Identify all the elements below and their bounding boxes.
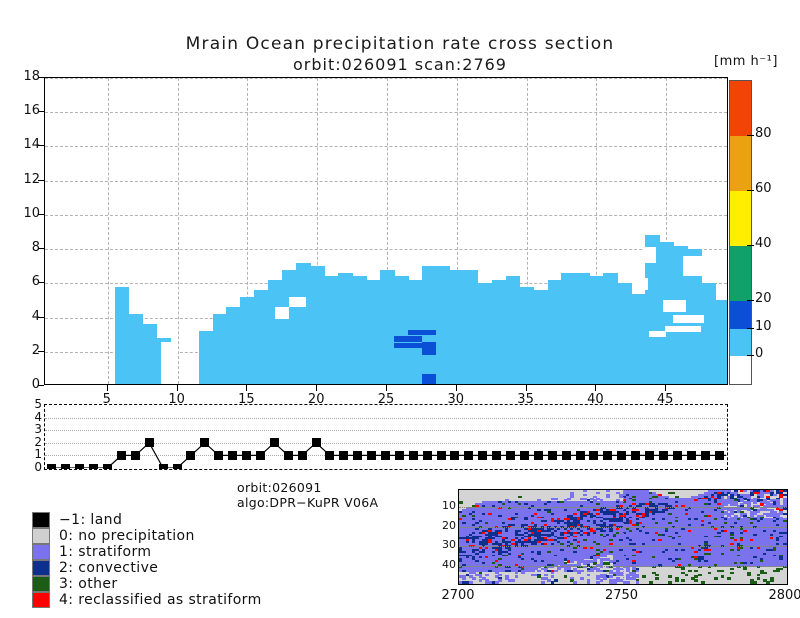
classification-marker	[159, 464, 168, 471]
inset-pixel	[567, 498, 571, 500]
inset-pixel	[747, 574, 751, 576]
y-axis-tick-label: 16	[6, 103, 40, 118]
inset-pixel	[606, 496, 610, 498]
classification-marker	[325, 451, 334, 460]
classification-marker	[367, 451, 376, 460]
x-axis-tick-mark	[386, 385, 387, 391]
classification-y-tick-label: 0	[26, 460, 42, 474]
classification-marker	[534, 451, 543, 460]
y-axis-tick-label: 18	[6, 69, 40, 84]
colorbar-tick-label: 40	[755, 236, 772, 251]
x-axis-tick-mark	[177, 385, 178, 391]
heavy-rain-cell	[408, 336, 423, 341]
precip-column	[464, 270, 479, 385]
inset-pixel	[541, 581, 545, 583]
inset-pixel	[672, 492, 676, 494]
inset-y-tick-label: 40	[434, 558, 456, 571]
gridline-horizontal	[45, 215, 727, 216]
inset-pixel	[551, 572, 555, 574]
inset-pixel	[590, 570, 594, 572]
precip-column	[534, 290, 549, 385]
classification-marker	[381, 451, 390, 460]
precip-column	[561, 273, 576, 385]
inset-pixel	[469, 581, 473, 583]
legend-item: 0: no precipitation	[32, 528, 262, 544]
inset-x-tick-label: 2750	[592, 588, 652, 603]
colorbar-tick-label: 20	[755, 291, 772, 306]
precip-column	[589, 276, 604, 385]
inset-pixel	[596, 492, 600, 494]
gridline-horizontal	[45, 112, 727, 113]
inset-pixel	[681, 579, 685, 581]
classification-marker	[214, 451, 223, 460]
colorbar-tick-mark	[747, 190, 754, 191]
inset-pixel	[479, 579, 483, 581]
x-axis-tick-mark	[595, 385, 596, 391]
inset-pixel	[551, 575, 555, 577]
inset-pixel	[603, 555, 607, 557]
classification-marker	[61, 464, 70, 471]
classification-marker	[673, 451, 682, 460]
colorbar-tick-label: 80	[755, 126, 772, 141]
precip-gap	[665, 326, 701, 332]
inset-pixel	[766, 581, 770, 583]
inset-pixel	[580, 577, 584, 579]
inset-x-axis: 270027502800	[458, 586, 788, 606]
heavy-rain-cell	[408, 343, 423, 348]
classification-marker	[75, 464, 84, 471]
inset-y-tick-label: 30	[434, 538, 456, 551]
inset-pixel	[573, 581, 577, 583]
y-axis-tick-label: 2	[6, 343, 40, 358]
metadata-algo: algo:DPR−KuPR V06A	[237, 495, 378, 510]
metadata-block: orbit:026091 algo:DPR−KuPR V06A	[237, 480, 378, 510]
colorbar-tick-mark	[747, 300, 754, 301]
inset-gridline-vertical	[623, 490, 624, 584]
inset-x-tick-label: 2700	[428, 588, 488, 603]
inset-pixel	[606, 562, 610, 564]
precip-gap	[673, 315, 704, 323]
classification-y-tick-label: 1	[26, 447, 42, 461]
inset-pixel	[554, 570, 558, 572]
inset-pixel	[587, 581, 591, 583]
page-title: Mrain Ocean precipitation rate cross sec…	[0, 34, 800, 54]
classification-marker	[89, 464, 98, 471]
classification-y-tick-label: 3	[26, 422, 42, 436]
inset-y-tick-label: 10	[434, 499, 456, 512]
inset-pixel	[694, 579, 698, 581]
legend-swatch	[32, 512, 50, 528]
legend-swatch	[32, 592, 50, 608]
precip-gap	[663, 300, 685, 312]
gridline-horizontal	[45, 146, 727, 147]
classification-marker	[200, 438, 209, 447]
inset-pixel	[472, 577, 476, 579]
y-axis-tick-label: 8	[6, 240, 40, 255]
inset-pixel	[655, 574, 659, 576]
inset-pixel	[685, 574, 689, 576]
inset-pixel	[753, 501, 757, 503]
heavy-rain-cell	[422, 330, 437, 335]
precip-column	[268, 280, 283, 385]
colorbar-tick-label: 0	[755, 346, 763, 361]
classification-marker	[520, 451, 529, 460]
precip-column	[715, 300, 728, 385]
classification-marker	[270, 438, 279, 447]
inset-pixel	[583, 494, 587, 496]
precip-column	[380, 270, 395, 385]
classification-legend: −1: land0: no precipitation1: stratiform…	[32, 512, 262, 608]
precip-column	[478, 283, 493, 385]
precip-column	[366, 280, 381, 385]
legend-swatch	[32, 576, 50, 592]
legend-item: 4: reclassified as stratiform	[32, 592, 262, 608]
classification-marker	[298, 451, 307, 460]
colorbar-tick-mark	[747, 355, 754, 356]
legend-label: 4: reclassified as stratiform	[59, 592, 262, 608]
inset-x-tick-label: 2800	[755, 588, 800, 603]
inset-pixel	[727, 577, 731, 579]
precip-column	[617, 283, 632, 385]
inset-pixel	[515, 572, 519, 574]
inset-pixel	[600, 579, 604, 581]
inset-pixel	[668, 581, 672, 583]
inset-pixel	[655, 577, 659, 579]
y-axis-tick-label: 6	[6, 274, 40, 289]
classification-marker	[353, 451, 362, 460]
classification-marker	[659, 451, 668, 460]
inset-pixel	[757, 574, 761, 576]
precip-column	[226, 307, 241, 385]
inset-pixel	[730, 572, 734, 574]
y-axis-tick-mark	[38, 214, 44, 215]
precip-column	[240, 297, 255, 385]
colorbar-unit-label: [mm h⁻¹]	[714, 54, 778, 69]
inset-pixel	[708, 572, 712, 574]
y-axis-tick-mark	[38, 282, 44, 283]
classification-marker	[506, 451, 515, 460]
inset-pixel	[518, 496, 522, 498]
classification-marker	[437, 451, 446, 460]
classification-marker	[562, 451, 571, 460]
precip-gap	[634, 278, 648, 290]
y-axis-tick-label: 0	[6, 377, 40, 392]
inset-pixel	[554, 498, 558, 500]
inset-pixel	[609, 575, 613, 577]
classification-marker	[395, 451, 404, 460]
x-axis-tick-mark	[456, 385, 457, 391]
precip-column	[436, 266, 451, 385]
y-axis-tick-label: 12	[6, 172, 40, 187]
inset-pixel	[763, 572, 767, 574]
precip-gap	[289, 297, 306, 307]
classification-y-tick-label: 5	[26, 397, 42, 411]
inset-pixel	[730, 568, 734, 570]
precip-column	[548, 280, 563, 385]
classification-marker	[103, 464, 112, 471]
x-axis-tick-mark	[246, 385, 247, 391]
inset-pixel	[570, 560, 574, 562]
page-subtitle: orbit:026091 scan:2769	[0, 55, 800, 74]
inset-pixel	[636, 581, 640, 583]
inset-pixel	[531, 570, 535, 572]
gridline-vertical	[178, 78, 179, 384]
precip-column	[199, 331, 214, 385]
precip-column	[631, 294, 646, 385]
precip-column	[394, 276, 409, 385]
y-axis-tick-mark	[38, 77, 44, 78]
swath-inset-map	[458, 489, 788, 585]
precip-column	[659, 242, 674, 385]
classification-marker	[715, 451, 724, 460]
inset-pixel	[577, 572, 581, 574]
classification-marker	[548, 451, 557, 460]
inset-pixel	[675, 579, 679, 581]
colorbar-tick-label: 60	[755, 181, 772, 196]
classification-marker	[173, 464, 182, 471]
inset-pixel	[743, 490, 747, 492]
inset-pixel	[681, 568, 685, 570]
classification-marker	[228, 451, 237, 460]
classification-marker	[47, 464, 56, 471]
heavy-rain-cell	[422, 374, 437, 385]
inset-y-tick-label: 20	[434, 519, 456, 532]
legend-item: 1: stratiform	[32, 544, 262, 560]
legend-label: 2: convective	[59, 560, 158, 576]
precip-column	[338, 273, 353, 385]
classification-marker	[450, 451, 459, 460]
colorbar-tick-mark	[747, 245, 754, 246]
precip-gap	[683, 256, 705, 277]
y-axis-tick-mark	[38, 145, 44, 146]
colorbar-ticks: 01020406080	[729, 80, 799, 385]
classification-marker	[186, 451, 195, 460]
precip-gap	[643, 247, 656, 262]
inset-pixel	[613, 581, 617, 583]
legend-label: 0: no precipitation	[59, 528, 195, 544]
precip-column	[143, 324, 158, 385]
gridline-vertical	[108, 78, 109, 384]
precip-gap	[275, 307, 289, 319]
x-axis-tick-mark	[665, 385, 666, 391]
classification-marker	[589, 451, 598, 460]
inset-pixel	[459, 501, 463, 503]
classification-marker	[423, 451, 432, 460]
precip-column	[129, 314, 144, 385]
classification-marker	[312, 438, 321, 447]
classification-marker	[576, 451, 585, 460]
y-axis-tick-mark	[38, 248, 44, 249]
inset-pixel	[783, 513, 787, 515]
inset-pixel	[636, 570, 640, 572]
heavy-rain-cell	[422, 342, 437, 356]
classification-plot	[44, 404, 728, 470]
colorbar-tick-label: 10	[755, 319, 772, 334]
inset-pixel	[596, 581, 600, 583]
cross-section-y-axis: 024681012141618	[0, 77, 40, 385]
inset-pixel	[701, 581, 705, 583]
inset-pixel	[587, 574, 591, 576]
inset-pixel	[668, 575, 672, 577]
inset-pixel	[721, 570, 725, 572]
legend-item: 3: other	[32, 576, 262, 592]
heavy-rain-cell	[394, 336, 409, 341]
heavy-rain-cell	[408, 330, 423, 335]
inset-pixel	[495, 581, 499, 583]
inset-y-axis: 10203040	[432, 489, 456, 585]
precip-column	[115, 287, 130, 385]
gridline-horizontal	[45, 78, 727, 79]
classification-marker	[145, 438, 154, 447]
precip-column	[296, 263, 311, 385]
inset-pixel	[564, 575, 568, 577]
precip-column	[422, 266, 437, 385]
precip-column	[701, 283, 716, 385]
precip-column	[506, 276, 521, 385]
legend-item: −1: land	[32, 512, 262, 528]
inset-pixel	[636, 575, 640, 577]
y-axis-tick-label: 4	[6, 309, 40, 324]
inset-pixel	[694, 570, 698, 572]
precip-column	[282, 270, 297, 385]
classification-marker	[284, 451, 293, 460]
precip-column	[310, 266, 325, 385]
colorbar-tick-mark	[747, 135, 754, 136]
y-axis-tick-mark	[38, 351, 44, 352]
legend-label: −1: land	[59, 512, 122, 528]
classification-marker	[131, 451, 140, 460]
legend-label: 1: stratiform	[59, 544, 151, 560]
classification-marker	[645, 451, 654, 460]
classification-marker	[492, 451, 501, 460]
classification-marker	[464, 451, 473, 460]
inset-pixel	[544, 574, 548, 576]
inset-pixel	[757, 577, 761, 579]
legend-swatch	[32, 528, 50, 544]
cross-section-canvas	[45, 78, 727, 384]
legend-label: 3: other	[59, 576, 118, 592]
classification-marker	[256, 451, 265, 460]
classification-marker	[478, 451, 487, 460]
inset-pixel	[688, 570, 692, 572]
classification-marker	[617, 451, 626, 460]
classification-marker	[117, 451, 126, 460]
x-axis-tick-mark	[107, 385, 108, 391]
inset-pixel	[626, 581, 630, 583]
inset-pixel	[606, 490, 610, 492]
y-axis-tick-label: 14	[6, 137, 40, 152]
inset-pixel	[694, 575, 698, 577]
inset-pixel	[515, 575, 519, 577]
x-axis-tick-mark	[316, 385, 317, 391]
inset-pixel	[721, 575, 725, 577]
precip-column	[603, 273, 618, 385]
precip-column	[352, 276, 367, 385]
precip-gap	[649, 331, 666, 337]
precip-gap	[161, 342, 178, 386]
gridline-horizontal	[45, 181, 727, 182]
inset-pixel	[776, 570, 780, 572]
legend-item: 2: convective	[32, 560, 262, 576]
classification-y-tick-label: 4	[26, 410, 42, 424]
inset-pixel	[485, 574, 489, 576]
x-axis-tick-mark	[526, 385, 527, 391]
y-axis-tick-mark	[38, 180, 44, 181]
inset-pixel	[753, 581, 757, 583]
precip-column	[492, 280, 507, 385]
inset-pixel	[642, 575, 646, 577]
inset-pixel	[551, 581, 555, 583]
precip-column	[450, 270, 465, 385]
precip-column	[213, 314, 228, 385]
precip-column	[324, 276, 339, 385]
inset-pixel	[583, 490, 587, 492]
classification-marker	[339, 451, 348, 460]
inset-pixel	[554, 579, 558, 581]
inset-pixel	[511, 579, 515, 581]
cross-section-plot	[44, 77, 728, 385]
precip-column	[254, 290, 269, 385]
classification-marker	[701, 451, 710, 460]
precip-column	[520, 287, 535, 385]
classification-marker	[603, 451, 612, 460]
inset-pixel	[521, 572, 525, 574]
classification-y-tick-label: 2	[26, 435, 42, 449]
colorbar-tick-mark	[747, 328, 754, 329]
classification-marker	[409, 451, 418, 460]
inset-pixel	[773, 494, 777, 496]
inset-pixel	[462, 577, 466, 579]
inset-pixel	[537, 570, 541, 572]
classification-marker	[687, 451, 696, 460]
legend-swatch	[32, 544, 50, 560]
gridline-horizontal	[45, 249, 727, 250]
metadata-orbit: orbit:026091	[237, 480, 378, 495]
heavy-rain-cell	[394, 343, 409, 348]
y-axis-tick-mark	[38, 111, 44, 112]
classification-marker	[631, 451, 640, 460]
inset-pixel	[743, 568, 747, 570]
y-axis-tick-label: 10	[6, 206, 40, 221]
classification-y-axis: 012345	[24, 400, 42, 474]
legend-swatch	[32, 560, 50, 576]
inset-pixel	[714, 577, 718, 579]
y-axis-tick-mark	[38, 317, 44, 318]
classification-marker	[242, 451, 251, 460]
inset-pixel	[649, 581, 653, 583]
precip-column	[575, 273, 590, 385]
